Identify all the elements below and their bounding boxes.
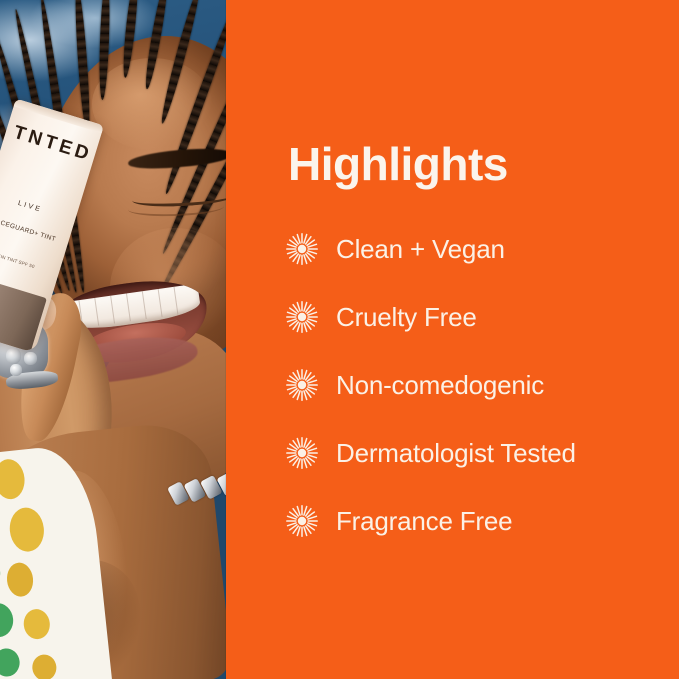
shirt-pattern-blob [0, 557, 2, 590]
highlight-item: Dermatologist Tested [286, 426, 576, 480]
shirt-pattern-blob [0, 647, 21, 678]
tube-brand-text: TNTED [11, 122, 88, 165]
sunburst-icon [286, 369, 318, 401]
page-title: Highlights [288, 137, 508, 191]
highlights-panel: Highlights Clean + VeganCruelty FreeNon-… [226, 0, 679, 679]
highlight-item: Fragrance Free [286, 494, 576, 548]
highlight-item-label: Dermatologist Tested [336, 438, 576, 469]
highlight-item: Clean + Vegan [286, 222, 576, 276]
highlight-item: Non-comedogenic [286, 358, 576, 412]
tube-subbrand-text: LIVE [0, 193, 66, 221]
shirt-pattern-blob [5, 561, 34, 598]
highlight-item-label: Cruelty Free [336, 302, 477, 333]
sunburst-icon [286, 233, 318, 265]
highlight-item: Cruelty Free [286, 290, 576, 344]
forehead-highlight [92, 58, 212, 150]
highlights-list: Clean + VeganCruelty FreeNon-comedogenic… [286, 222, 576, 562]
shirt-pattern-blob [0, 602, 15, 639]
ring-gem [10, 364, 22, 376]
tooth-separator [94, 298, 99, 326]
sunburst-icon [286, 301, 318, 333]
tube-spf-line: SKIN TINT SPF 50 [0, 246, 54, 276]
shirt-pattern-blob [22, 608, 51, 641]
tooth-separator [126, 293, 131, 321]
tooth-separator [142, 291, 147, 319]
tooth-separator [110, 296, 115, 324]
shirt-pattern-blob [8, 506, 46, 553]
tooth-separator [158, 289, 163, 317]
product-highlights-card: TNTED LIVE FACEGUARD+ TINT SKIN TINT SPF… [0, 0, 679, 679]
sunburst-icon [286, 505, 318, 537]
tooth-separator [174, 287, 179, 315]
ring-gem [6, 348, 21, 364]
shirt-pattern-blob [0, 458, 26, 501]
ring-gem [24, 352, 37, 365]
shirt-pattern-blob [31, 653, 58, 679]
model-photo: TNTED LIVE FACEGUARD+ TINT SKIN TINT SPF… [0, 0, 226, 679]
highlight-item-label: Clean + Vegan [336, 234, 505, 265]
sunburst-icon [286, 437, 318, 469]
highlight-item-label: Non-comedogenic [336, 370, 544, 401]
highlight-item-label: Fragrance Free [336, 506, 512, 537]
